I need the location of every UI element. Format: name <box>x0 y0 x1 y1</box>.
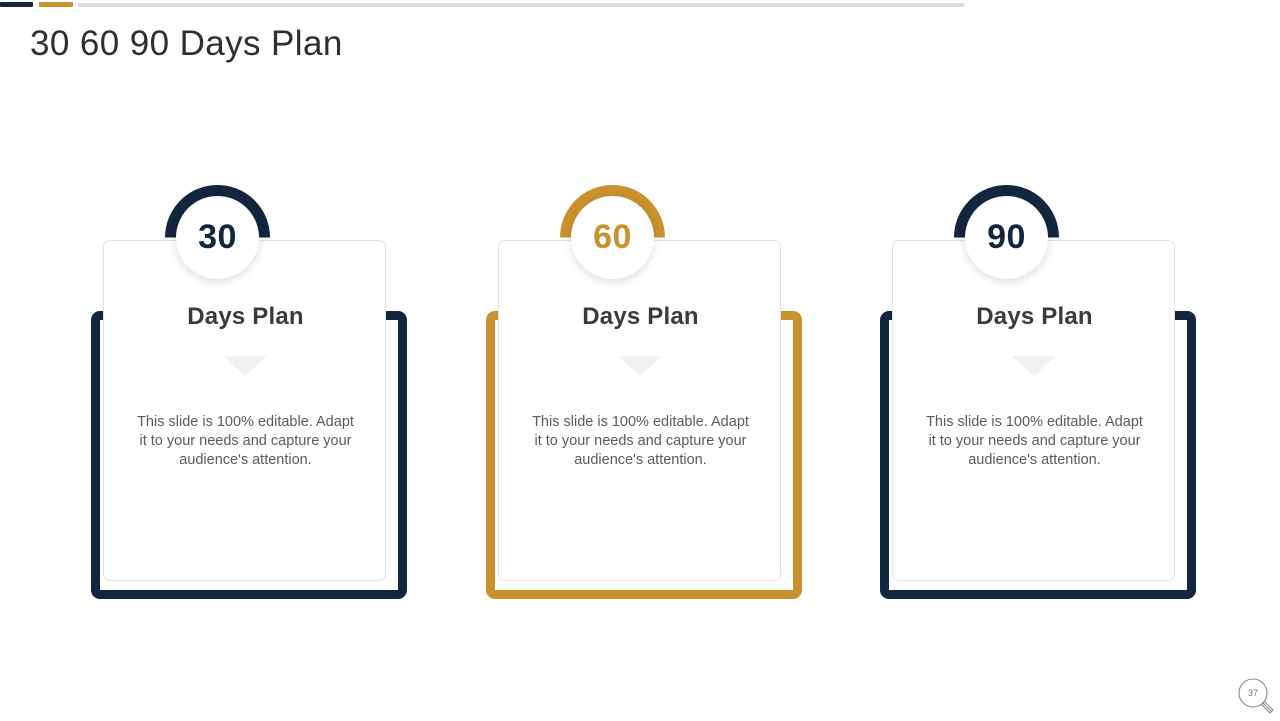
zoom-indicator[interactable]: 37 <box>1236 676 1276 716</box>
card-divider-triangle-icon <box>1012 356 1056 376</box>
card-divider-triangle-icon <box>618 356 662 376</box>
card-body: Days Plan This slide is 100% editable. A… <box>498 240 781 581</box>
card-badge: 30 <box>165 185 270 290</box>
card-body: Days Plan This slide is 100% editable. A… <box>892 240 1175 581</box>
card-divider-triangle-icon <box>223 356 267 376</box>
zoom-indicator-value: 37 <box>1236 676 1270 710</box>
plan-card-90[interactable]: Days Plan This slide is 100% editable. A… <box>874 0 1194 720</box>
card-body: Days Plan This slide is 100% editable. A… <box>103 240 386 581</box>
card-body-text: This slide is 100% editable. Adapt it to… <box>921 413 1148 470</box>
badge-number: 90 <box>954 185 1059 290</box>
plan-card-60[interactable]: Days Plan This slide is 100% editable. A… <box>480 0 800 720</box>
badge-number: 60 <box>560 185 665 290</box>
card-badge: 90 <box>954 185 1059 290</box>
card-heading: Days Plan <box>893 303 1176 331</box>
card-badge: 60 <box>560 185 665 290</box>
badge-number: 30 <box>165 185 270 290</box>
plan-card-30[interactable]: Days Plan This slide is 100% editable. A… <box>85 0 405 720</box>
card-heading: Days Plan <box>104 303 387 331</box>
card-body-text: This slide is 100% editable. Adapt it to… <box>527 413 754 470</box>
card-heading: Days Plan <box>499 303 782 331</box>
cards-area: Days Plan This slide is 100% editable. A… <box>0 0 1280 720</box>
card-body-text: This slide is 100% editable. Adapt it to… <box>132 413 359 470</box>
